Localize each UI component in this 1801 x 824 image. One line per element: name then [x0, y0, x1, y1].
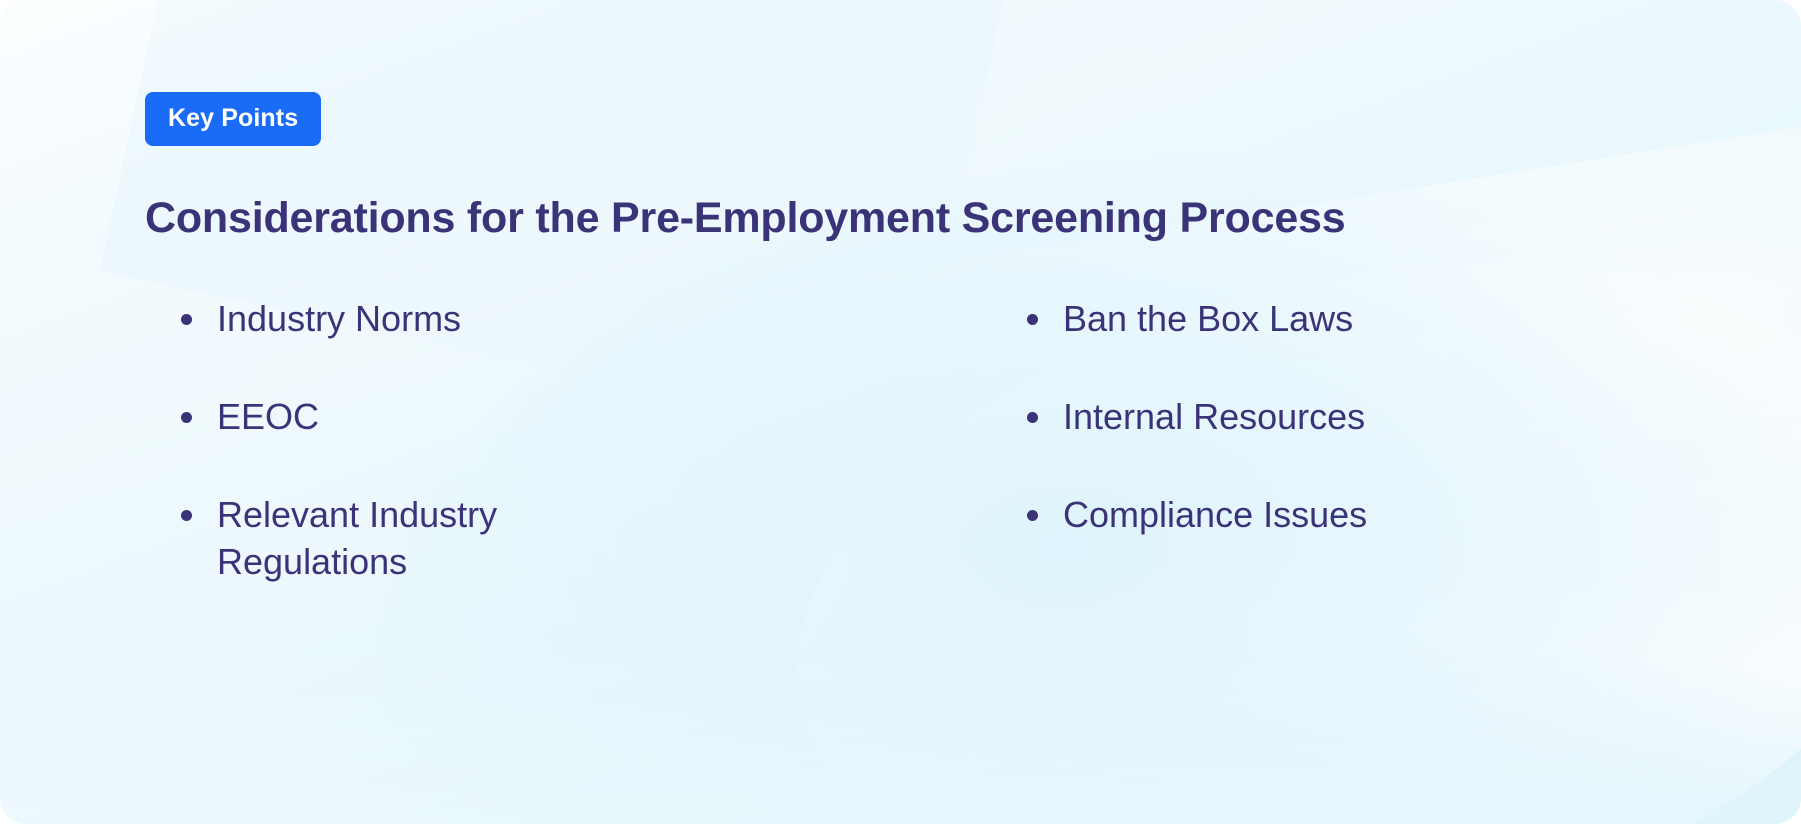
list-item-label: Industry Norms	[217, 298, 461, 339]
bullet-list-right: Ban the Box Laws Internal Resources Comp…	[991, 296, 1751, 538]
bullet-dot-icon	[1027, 412, 1038, 423]
key-points-badge: Key Points	[145, 92, 321, 146]
list-item: Compliance Issues	[991, 492, 1483, 538]
list-item: Industry Norms	[145, 296, 637, 342]
bullet-dot-icon	[181, 412, 192, 423]
bullet-column-left: Industry Norms EEOC Relevant Industry Re…	[145, 296, 905, 584]
list-item: Internal Resources	[991, 394, 1483, 440]
list-item-label: Relevant Industry Regulations	[217, 494, 497, 581]
list-item-label: Compliance Issues	[1063, 494, 1367, 535]
bullet-dot-icon	[181, 314, 192, 325]
key-points-card: Key Points Considerations for the Pre-Em…	[0, 0, 1801, 824]
bullet-dot-icon	[1027, 510, 1038, 521]
decorative-swoosh-bottom	[0, 659, 1801, 824]
card-content: Key Points Considerations for the Pre-Em…	[0, 0, 1801, 585]
bullet-dot-icon	[1027, 314, 1038, 325]
list-item-label: Internal Resources	[1063, 396, 1365, 437]
page-title: Considerations for the Pre-Employment Sc…	[145, 195, 1801, 242]
list-item: EEOC	[145, 394, 637, 440]
bullet-columns: Industry Norms EEOC Relevant Industry Re…	[145, 296, 1801, 584]
bullet-column-right: Ban the Box Laws Internal Resources Comp…	[991, 296, 1751, 584]
bullet-dot-icon	[181, 510, 192, 521]
list-item: Ban the Box Laws	[991, 296, 1483, 342]
list-item: Relevant Industry Regulations	[145, 492, 637, 584]
list-item-label: EEOC	[217, 396, 319, 437]
bullet-list-left: Industry Norms EEOC Relevant Industry Re…	[145, 296, 905, 584]
list-item-label: Ban the Box Laws	[1063, 298, 1353, 339]
